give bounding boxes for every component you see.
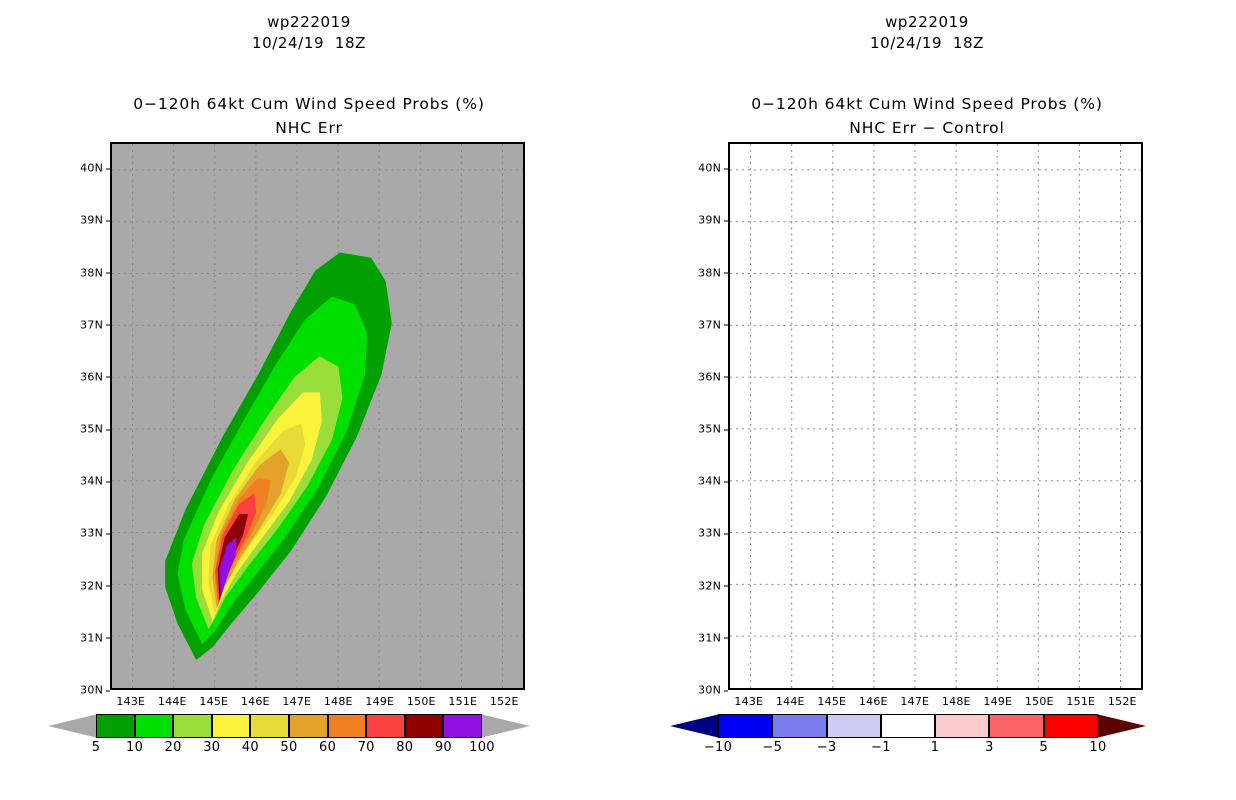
colorbar-label-4: 1 — [931, 740, 940, 755]
colorbar-cap-high — [1098, 714, 1146, 738]
axis-ticks-right: 30N31N32N33N34N35N36N37N38N39N40N143E144… — [728, 142, 1143, 690]
colorbar-label-2: −3 — [817, 740, 837, 755]
ytick-40N: 40N — [698, 162, 728, 175]
colorbar-label-9: 90 — [435, 740, 452, 755]
colorbar-swatch-6[interactable] — [1044, 714, 1098, 738]
xtick-143E: 143E — [116, 690, 145, 708]
ytick-35N: 35N — [698, 423, 728, 436]
colorbar-left[interactable]: 5102030405060708090100 — [0, 714, 618, 774]
xtick-145E: 145E — [817, 690, 846, 708]
xtick-152E: 152E — [490, 690, 519, 708]
colorbar-swatch-6[interactable] — [328, 714, 367, 738]
colorbar-swatch-0[interactable] — [96, 714, 135, 738]
colorbar-label-8: 80 — [396, 740, 413, 755]
panel-right: wp222019 10/24/19 18Z 0−120h 64kt Cum Wi… — [618, 0, 1236, 800]
ytick-36N: 36N — [80, 370, 110, 383]
xtick-146E: 146E — [241, 690, 270, 708]
xtick-151E: 151E — [1066, 690, 1095, 708]
colorbar-label-6: 5 — [1039, 740, 1048, 755]
valid-datetime: 10/24/19 18Z — [0, 33, 618, 54]
ytick-34N: 34N — [80, 475, 110, 488]
colorbar-cap-low — [48, 714, 96, 738]
ytick-30N: 30N — [698, 684, 728, 697]
ytick-40N: 40N — [80, 162, 110, 175]
colorbar-label-7: 70 — [358, 740, 375, 755]
xtick-149E: 149E — [983, 690, 1012, 708]
storm-id: wp222019 — [618, 12, 1236, 33]
ytick-31N: 31N — [80, 631, 110, 644]
colorbar-swatch-5[interactable] — [989, 714, 1043, 738]
ytick-39N: 39N — [698, 214, 728, 227]
xtick-150E: 150E — [407, 690, 436, 708]
ytick-32N: 32N — [80, 579, 110, 592]
ytick-31N: 31N — [698, 631, 728, 644]
colorbar-cap-high — [482, 714, 530, 738]
colorbar-swatch-4[interactable] — [935, 714, 989, 738]
colorbar-right[interactable]: −10−5−3−113510 — [618, 714, 1236, 774]
xtick-144E: 144E — [158, 690, 187, 708]
colorbar-swatch-5[interactable] — [289, 714, 328, 738]
xtick-149E: 149E — [365, 690, 394, 708]
colorbar-swatch-7[interactable] — [366, 714, 405, 738]
xtick-145E: 145E — [199, 690, 228, 708]
xtick-150E: 150E — [1025, 690, 1054, 708]
panel-right-titles: wp222019 10/24/19 18Z — [618, 12, 1236, 54]
colorbar-label-5: 3 — [985, 740, 994, 755]
ytick-38N: 38N — [698, 266, 728, 279]
ytick-33N: 33N — [80, 527, 110, 540]
colorbar-swatch-8[interactable] — [405, 714, 444, 738]
valid-datetime: 10/24/19 18Z — [618, 33, 1236, 54]
product-variant: NHC Err − Control — [618, 116, 1236, 140]
axis-ticks-left: 30N31N32N33N34N35N36N37N38N39N40N143E144… — [110, 142, 525, 690]
product-title: 0−120h 64kt Cum Wind Speed Probs (%) — [0, 92, 618, 116]
xtick-152E: 152E — [1108, 690, 1137, 708]
colorbar-swatch-1[interactable] — [772, 714, 826, 738]
colorbar-label-0: 5 — [92, 740, 101, 755]
colorbar-label-10: 100 — [469, 740, 495, 755]
panel-left: wp222019 10/24/19 18Z 0−120h 64kt Cum Wi… — [0, 0, 618, 800]
ytick-32N: 32N — [698, 579, 728, 592]
colorbar-label-2: 20 — [165, 740, 182, 755]
colorbar-swatch-9[interactable] — [443, 714, 482, 738]
colorbar-label-1: 10 — [126, 740, 143, 755]
panel-right-subtitles: 0−120h 64kt Cum Wind Speed Probs (%) NHC… — [618, 92, 1236, 140]
colorbar-cap-low — [670, 714, 718, 738]
ytick-35N: 35N — [80, 423, 110, 436]
colorbar-swatch-3[interactable] — [212, 714, 251, 738]
ytick-30N: 30N — [80, 684, 110, 697]
ytick-36N: 36N — [698, 370, 728, 383]
colorbar-swatch-2[interactable] — [827, 714, 881, 738]
product-variant: NHC Err — [0, 116, 618, 140]
xtick-148E: 148E — [942, 690, 971, 708]
colorbar-label-3: 30 — [203, 740, 220, 755]
colorbar-label-5: 50 — [280, 740, 297, 755]
xtick-151E: 151E — [448, 690, 477, 708]
xtick-143E: 143E — [734, 690, 763, 708]
colorbar-label-6: 60 — [319, 740, 336, 755]
colorbar-swatch-4[interactable] — [250, 714, 289, 738]
panel-left-titles: wp222019 10/24/19 18Z — [0, 12, 618, 54]
colorbar-swatch-0[interactable] — [718, 714, 772, 738]
panel-left-subtitles: 0−120h 64kt Cum Wind Speed Probs (%) NHC… — [0, 92, 618, 140]
xtick-147E: 147E — [282, 690, 311, 708]
product-title: 0−120h 64kt Cum Wind Speed Probs (%) — [618, 92, 1236, 116]
xtick-146E: 146E — [859, 690, 888, 708]
xtick-147E: 147E — [900, 690, 929, 708]
colorbar-label-4: 40 — [242, 740, 259, 755]
ytick-37N: 37N — [698, 318, 728, 331]
storm-id: wp222019 — [0, 12, 618, 33]
xtick-144E: 144E — [776, 690, 805, 708]
colorbar-label-7: 10 — [1089, 740, 1106, 755]
ytick-33N: 33N — [698, 527, 728, 540]
ytick-37N: 37N — [80, 318, 110, 331]
ytick-39N: 39N — [80, 214, 110, 227]
ytick-38N: 38N — [80, 266, 110, 279]
xtick-148E: 148E — [324, 690, 353, 708]
ytick-34N: 34N — [698, 475, 728, 488]
colorbar-label-0: −10 — [704, 740, 732, 755]
colorbar-swatch-1[interactable] — [135, 714, 174, 738]
colorbar-swatch-3[interactable] — [881, 714, 935, 738]
colorbar-label-1: −5 — [762, 740, 782, 755]
colorbar-swatch-2[interactable] — [173, 714, 212, 738]
colorbar-label-3: −1 — [871, 740, 891, 755]
